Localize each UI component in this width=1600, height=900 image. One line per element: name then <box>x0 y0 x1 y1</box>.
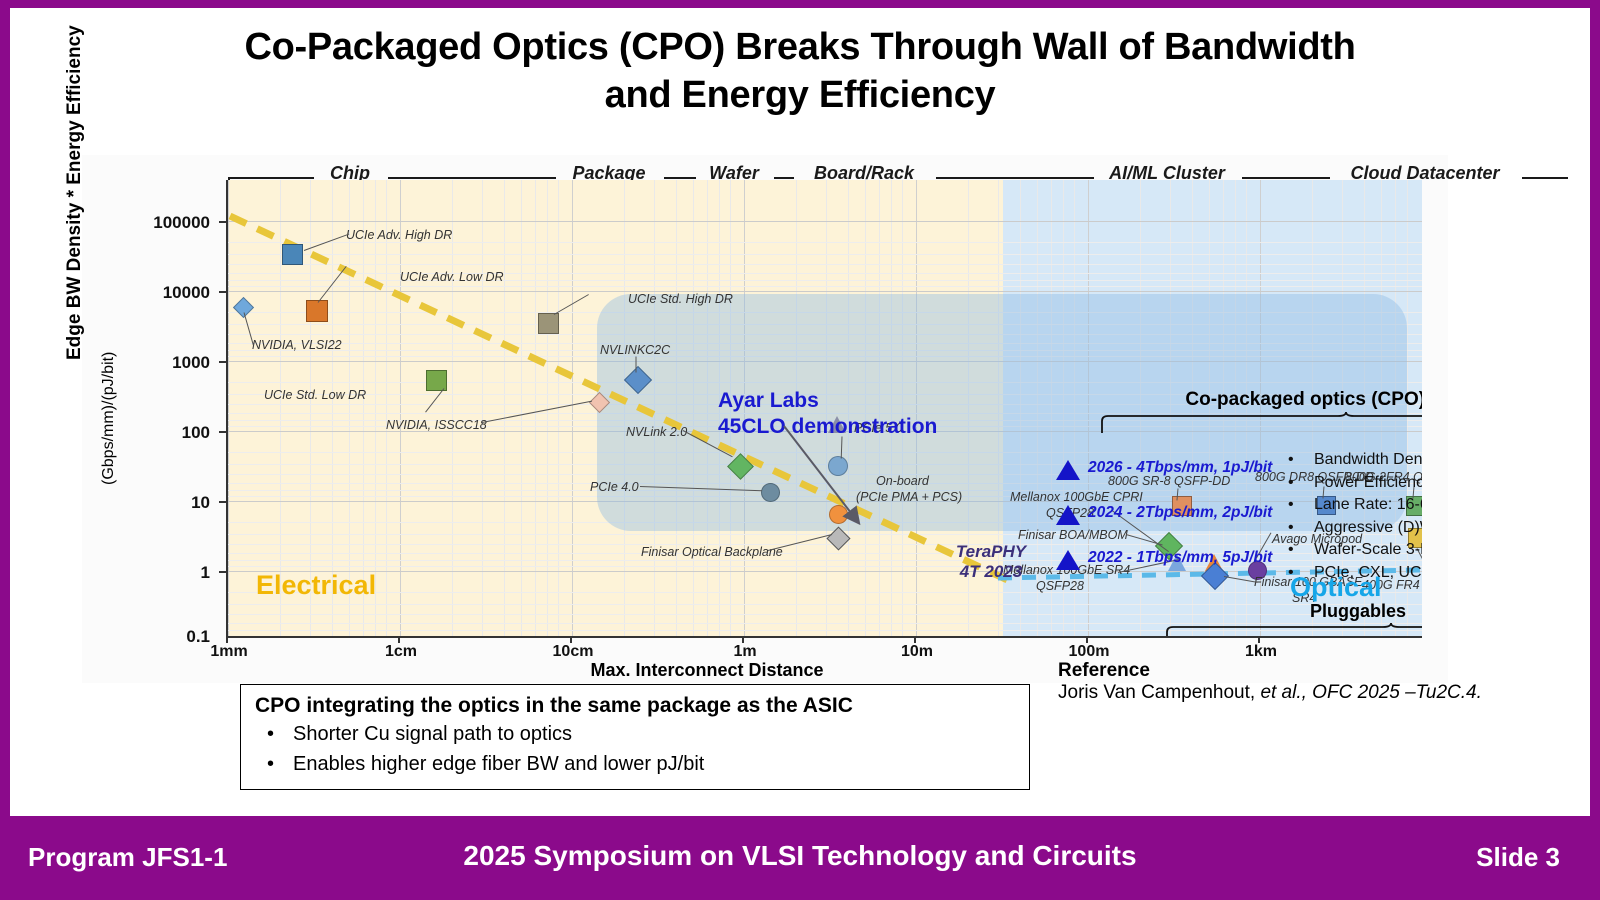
label-nvlink-2-0: NVLink 2.0 <box>626 425 687 439</box>
bullet-dot-icon: • <box>1288 497 1294 514</box>
y-tick-100000: 100000 <box>120 213 210 233</box>
label-onboard-detail: (PCIe PMA + PCS) <box>856 490 962 504</box>
reference-heading: Reference <box>1058 660 1598 682</box>
cpo-bullet-list: •Bandwidth Density Target: 2-4Tbps/mm •P… <box>1288 452 1422 587</box>
x-tickmark <box>1086 636 1088 643</box>
x-tickmark <box>742 636 744 643</box>
electrical-watermark: Electrical <box>256 570 376 601</box>
y-tick-10000: 10000 <box>120 283 210 303</box>
point-pcie-4-0 <box>761 483 780 502</box>
cpo-bullet: •Wafer-Scale 3-D Packaging & Assembly <box>1288 542 1422 565</box>
legend-item: 2024 - 2Tbps/mm, 2pJ/bit <box>1056 501 1286 546</box>
ayar-labs-callout: Ayar Labs 45CLO demonstration <box>718 388 937 441</box>
teraphy-line-1: TeraPHY <box>931 542 1051 562</box>
x-tick-1km: 1km <box>1216 643 1306 661</box>
title-line-2: and Energy Efficiency <box>70 72 1530 120</box>
cpo-bullet-text: PCIe, CXL, UCIe, … standards <box>1314 565 1422 582</box>
bullet-dot-icon: • <box>1288 520 1294 537</box>
y-axis-units: (Gbps/mm)/(pJ/bit) <box>100 352 118 485</box>
cpo-bullet: •PCIe, CXL, UCIe, … standards <box>1288 565 1422 588</box>
x-axis-title: Max. Interconnect Distance <box>492 660 922 681</box>
point-onboard-pcie <box>829 505 848 524</box>
plot-area: UCIe Adv. High DR UCIe Adv. Low DR NVIDI… <box>226 180 1422 638</box>
bullet-dot-icon: • <box>1288 475 1294 492</box>
teraphy-callout: TeraPHY 4T 2023 <box>931 542 1051 583</box>
cpo-bullet: •Aggressive (D)WDM-8 ➔ 16 ➔ 32 ➔ 64 <box>1288 520 1422 543</box>
takeaway-heading: CPO integrating the optics in the same p… <box>255 693 1015 719</box>
region-rule <box>1242 177 1330 179</box>
region-rule <box>664 177 696 179</box>
bullet-dot-icon: • <box>1288 565 1294 582</box>
region-rule <box>936 177 1094 179</box>
y-tick-10: 10 <box>120 493 210 513</box>
takeaway-bullet-text: Enables higher edge fiber BW and lower p… <box>293 753 704 775</box>
footer-conference: 2025 Symposium on VLSI Technology and Ci… <box>0 840 1600 872</box>
label-nvlinkc2c: NVLINKC2C <box>600 343 670 357</box>
takeaway-box: CPO integrating the optics in the same p… <box>240 684 1030 790</box>
point-pcie-5-0 <box>828 456 848 476</box>
x-tick-1m: 1m <box>700 643 790 661</box>
point-ucie-std-high-dr <box>538 313 559 334</box>
ayar-line-2: 45CLO demonstration <box>718 414 937 440</box>
bullet-dot-icon: • <box>267 719 274 749</box>
region-rule <box>1522 177 1568 179</box>
bullet-dot-icon: • <box>1288 542 1294 559</box>
legend-item: 2022 - 1Tbps/mm, 5pJ/bit <box>1056 546 1286 591</box>
cpo-bullet: •Bandwidth Density Target: 2-4Tbps/mm <box>1288 452 1422 475</box>
label-ucie-adv-high-dr: UCIe Adv. High DR <box>346 228 452 242</box>
x-tick-100m: 100m <box>1044 643 1134 661</box>
cpo-bullet-text: Wafer-Scale 3-D Packaging & Assembly <box>1314 542 1422 559</box>
label-onboard: On-board <box>876 474 929 488</box>
takeaway-bullet: •Enables higher edge fiber BW and lower … <box>255 749 1015 779</box>
point-ucie-adv-low-dr <box>306 300 328 322</box>
ayar-line-1: Ayar Labs <box>718 388 937 414</box>
cpo-bullet-text: Bandwidth Density Target: 2-4Tbps/mm <box>1314 452 1422 469</box>
reference-authors: Joris Van Campenhout, <box>1058 682 1260 703</box>
cpo-roadmap-legend: 2026 - 4Tbps/mm, 1pJ/bit 2024 - 2Tbps/mm… <box>1056 456 1286 591</box>
x-tickmark <box>1258 636 1260 643</box>
legend-label: 2022 - 1Tbps/mm, 5pJ/bit <box>1088 549 1272 567</box>
reference-block: Reference Joris Van Campenhout, et al., … <box>1058 660 1598 704</box>
slide-footer: Program JFS1-1 2025 Symposium on VLSI Te… <box>0 818 1600 900</box>
triangle-up-icon <box>1056 505 1080 525</box>
bullet-dot-icon: • <box>1288 452 1294 469</box>
x-tick-1cm: 1cm <box>356 643 446 661</box>
label-nvidia-vlsi22: NVIDIA, VLSI22 <box>252 338 342 352</box>
footer-slide-number: Slide 3 <box>1476 842 1560 873</box>
legend-label: 2026 - 4Tbps/mm, 1pJ/bit <box>1088 459 1272 477</box>
triangle-up-icon <box>1056 550 1080 570</box>
label-pcie-4-0: PCIe 4.0 <box>590 480 639 494</box>
leader-line <box>636 357 637 373</box>
slide-root: Co-Packaged Optics (CPO) Breaks Through … <box>0 0 1600 900</box>
x-tickmark <box>226 636 228 643</box>
cpo-roadmap-heading: Co-packaged optics (CPO) roadmap <box>1098 389 1422 411</box>
title-line-1: Co-Packaged Optics (CPO) Breaks Through … <box>70 24 1530 72</box>
x-tickmark <box>914 636 916 643</box>
bullet-dot-icon: • <box>267 749 274 779</box>
legend-label: 2024 - 2Tbps/mm, 2pJ/bit <box>1088 504 1272 522</box>
label-finisar-optical-backplane: Finisar Optical Backplane <box>641 545 783 559</box>
pluggables-heading: Pluggables <box>1208 601 1422 622</box>
reference-citation: Joris Van Campenhout, et al., OFC 2025 –… <box>1058 682 1598 704</box>
triangle-up-icon <box>1056 460 1080 480</box>
region-rule <box>774 177 794 179</box>
x-tickmark <box>398 636 400 643</box>
y-tick-1: 1 <box>120 563 210 583</box>
point-ucie-adv-high-dr <box>282 244 303 265</box>
cpo-roadmap-bracket <box>1098 412 1422 434</box>
takeaway-bullet-text: Shorter Cu signal path to optics <box>293 723 572 745</box>
page-title: Co-Packaged Optics (CPO) Breaks Through … <box>70 24 1530 119</box>
y-tick-1000: 1000 <box>120 353 210 373</box>
chart-card: Edge BW Density * Energy Efficiency (Gbp… <box>82 155 1448 683</box>
pluggables-bracket <box>1163 623 1422 638</box>
legend-item: 2026 - 4Tbps/mm, 1pJ/bit <box>1056 456 1286 501</box>
label-ucie-std-high-dr: UCIe Std. High DR <box>628 292 733 306</box>
x-tick-10cm: 10cm <box>528 643 618 661</box>
slide-page: Co-Packaged Optics (CPO) Breaks Through … <box>10 8 1590 816</box>
label-nvidia-isscc18: NVIDIA, ISSCC18 <box>386 418 487 432</box>
x-tick-1mm: 1mm <box>184 643 274 661</box>
y-axis-title: Edge BW Density * Energy Efficiency <box>64 25 86 360</box>
label-ucie-adv-low-dr: UCIe Adv. Low DR <box>400 270 504 284</box>
cpo-bullet-text: Lane Rate: 16-64Gbps NRZ <box>1314 497 1422 514</box>
x-tick-10m: 10m <box>872 643 962 661</box>
cpo-bullet-text: Power Efficiency Target < 5pJ/bit <box>1314 475 1422 492</box>
teraphy-line-2: 4T 2023 <box>931 562 1051 582</box>
takeaway-bullet: •Shorter Cu signal path to optics <box>255 719 1015 749</box>
cpo-bullet: •Lane Rate: 16-64Gbps NRZ <box>1288 497 1422 520</box>
y-tick-100: 100 <box>120 423 210 443</box>
region-rule <box>388 177 556 179</box>
reference-source: et al., OFC 2025 –Tu2C.4. <box>1260 682 1481 703</box>
cpo-bullet-text: Aggressive (D)WDM-8 ➔ 16 ➔ 32 ➔ 64 <box>1314 520 1422 537</box>
x-tickmark <box>570 636 572 643</box>
label-ucie-std-low-dr: UCIe Std. Low DR <box>264 388 366 402</box>
cpo-bullet: •Power Efficiency Target < 5pJ/bit <box>1288 475 1422 498</box>
region-rule <box>228 177 314 179</box>
